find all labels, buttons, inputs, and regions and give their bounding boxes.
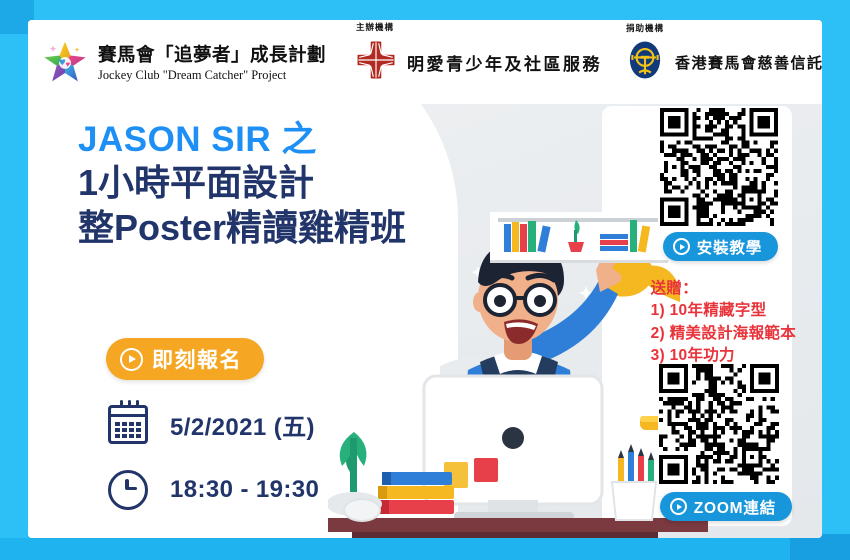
hkjc-emblem-logo	[624, 39, 666, 86]
jockey-club-title: 賽馬會「追夢者」成長計劃 Jockey Club "Dream Catcher"…	[98, 41, 326, 83]
rainbow-star-logo	[42, 39, 88, 85]
organiser-tag: 主辦機構	[356, 21, 394, 33]
zoom-link-qr-code[interactable]	[658, 364, 780, 484]
poster-frame: 賽馬會「追夢者」成長計劃 Jockey Club "Dream Catcher"…	[0, 0, 850, 560]
play-circle-icon	[670, 498, 687, 515]
install-tutorial-label: 安裝教學	[697, 236, 762, 258]
organiser-block: 主辦機構	[354, 38, 602, 87]
funder-name: 香港賽馬會慈善信託基金	[675, 52, 822, 73]
play-circle-icon	[673, 238, 690, 255]
funder-block: 捐助機構 香港賽馬會	[624, 39, 822, 86]
calendar-icon	[108, 405, 148, 444]
caritas-cross-logo	[354, 38, 398, 87]
pencil-cup	[612, 444, 656, 520]
frame-bottom-strip	[0, 538, 850, 560]
headline-line-3: 整Poster精讀雞精班	[78, 206, 406, 249]
bonus-item: 2) 精美設計海報範本	[651, 323, 796, 345]
event-date-row: 5/2/2021 (五)	[108, 405, 315, 444]
headline-line-2: 1小時平面設計	[78, 161, 406, 204]
install-tutorial-button[interactable]: 安裝教學	[663, 232, 778, 261]
headline-line-1: JASON SIR 之	[78, 120, 406, 161]
bonus-item: 1) 10年精藏字型	[651, 300, 796, 322]
funder-tag: 捐助機構	[626, 22, 664, 34]
zoom-link-button[interactable]: ZOOM連結	[660, 492, 792, 521]
event-date-text: 5/2/2021 (五)	[170, 407, 315, 442]
bonus-list: 送贈： 1) 10年精藏字型 2) 精美設計海報範本 3) 10年功力	[651, 278, 796, 368]
poster-canvas: 賽馬會「追夢者」成長計劃 Jockey Club "Dream Catcher"…	[28, 20, 822, 538]
zoom-link-label: ZOOM連結	[694, 496, 776, 518]
jockey-club-title-en: Jockey Club "Dream Catcher" Project	[98, 68, 326, 83]
organiser-name: 明愛青少年及社區服務	[407, 50, 602, 75]
headline-block: JASON SIR 之 1小時平面設計 整Poster精讀雞精班	[78, 120, 406, 249]
bonus-heading: 送贈：	[651, 278, 796, 300]
installation-tutorial-qr-code[interactable]	[658, 108, 780, 226]
bookshelf	[490, 212, 668, 260]
bonus-item: 3) 10年功力	[651, 345, 796, 367]
jockey-club-logo-block: 賽馬會「追夢者」成長計劃 Jockey Club "Dream Catcher"…	[28, 39, 326, 85]
event-time-row: 18:30 - 19:30	[108, 470, 319, 510]
play-circle-icon	[120, 348, 143, 371]
register-now-label: 即刻報名	[152, 344, 242, 374]
clock-icon	[108, 470, 148, 510]
jockey-club-title-cn: 賽馬會「追夢者」成長計劃	[98, 41, 326, 67]
poster-header: 賽馬會「追夢者」成長計劃 Jockey Club "Dream Catcher"…	[28, 20, 822, 104]
event-time-text: 18:30 - 19:30	[170, 476, 319, 504]
register-now-button[interactable]: 即刻報名	[106, 338, 264, 380]
book-stack	[378, 472, 454, 514]
